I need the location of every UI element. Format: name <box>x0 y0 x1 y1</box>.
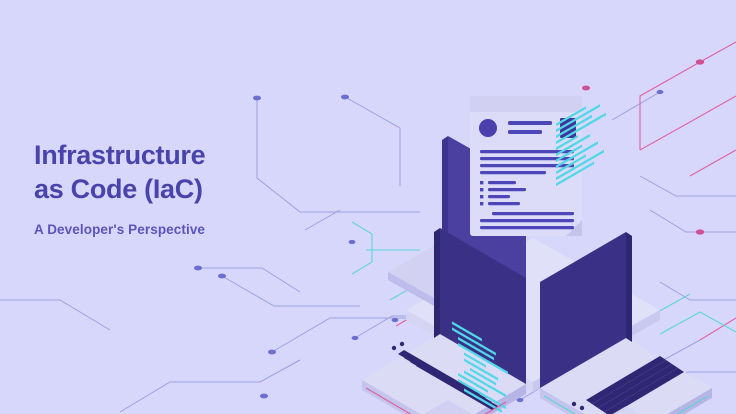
title-line-2: as Code (IaC) <box>34 174 203 204</box>
slide-root: Infrastructureas Code (IaC) A Developer'… <box>0 0 736 414</box>
header-line-2 <box>508 130 542 134</box>
title-line-1: Infrastructure <box>34 140 205 170</box>
document-card <box>470 96 582 236</box>
page-subtitle: A Developer's Perspective <box>34 222 324 237</box>
page-title: Infrastructureas Code (IaC) <box>34 138 324 206</box>
headline-block: Infrastructureas Code (IaC) A Developer'… <box>34 138 324 237</box>
header-line-1 <box>508 121 552 125</box>
avatar <box>479 119 497 137</box>
illustration <box>330 88 736 414</box>
